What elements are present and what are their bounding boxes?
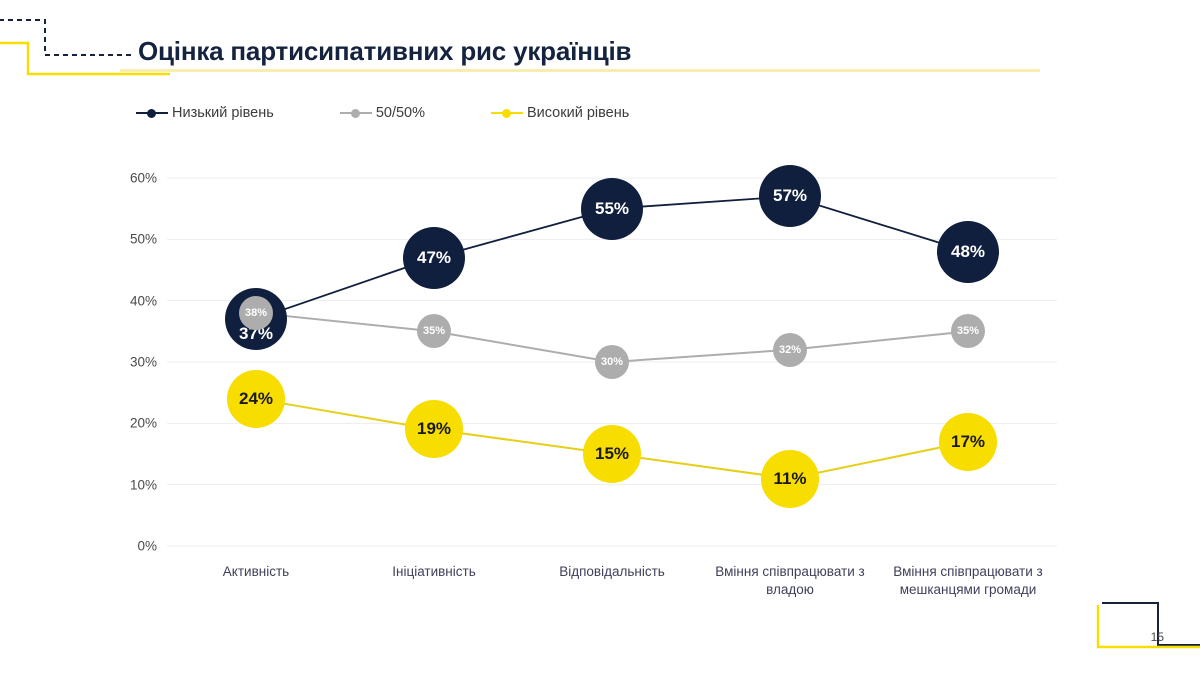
data-point-bubble[interactable]: 35%	[951, 314, 985, 348]
y-axis-tick-label: 30%	[109, 355, 157, 370]
data-point-bubble[interactable]: 24%	[227, 370, 285, 428]
data-point-bubble[interactable]: 35%	[417, 314, 451, 348]
x-axis-tick-label: Відповідальність	[517, 563, 707, 581]
data-point-bubble[interactable]: 15%	[583, 425, 641, 483]
data-point-bubble[interactable]: 57%	[759, 165, 821, 227]
y-axis-tick-label: 0%	[109, 539, 157, 554]
data-point-bubble[interactable]: 30%	[595, 345, 629, 379]
y-axis-tick-label: 50%	[109, 232, 157, 247]
data-point-bubble[interactable]: 11%	[761, 450, 819, 508]
y-axis-tick-label: 10%	[109, 477, 157, 492]
y-axis-tick-label: 20%	[109, 416, 157, 431]
data-point-bubble[interactable]: 17%	[939, 413, 997, 471]
chart-plot-area: 0%10%20%30%40%50%60% АктивністьІніціатив…	[0, 0, 1200, 675]
x-axis-tick-label: Вміння співпрацювати з владою	[695, 563, 885, 599]
y-axis-tick-label: 60%	[109, 171, 157, 186]
x-axis-tick-label: Вміння співпрацювати з мешканцями громад…	[873, 563, 1063, 599]
x-axis-tick-label: Ініціативність	[339, 563, 529, 581]
data-point-bubble[interactable]: 32%	[773, 333, 807, 367]
data-point-bubble[interactable]: 19%	[405, 400, 463, 458]
data-point-bubble[interactable]: 48%	[937, 221, 999, 283]
slide: Оцінка партисипативних рис українців Низ…	[0, 0, 1200, 675]
y-axis-tick-label: 40%	[109, 293, 157, 308]
data-point-bubble[interactable]: 55%	[581, 178, 643, 240]
data-point-bubble[interactable]: 38%	[239, 296, 273, 330]
data-point-bubble[interactable]: 47%	[403, 227, 465, 289]
x-axis-tick-label: Активність	[161, 563, 351, 581]
page-number: 15	[1151, 630, 1164, 644]
